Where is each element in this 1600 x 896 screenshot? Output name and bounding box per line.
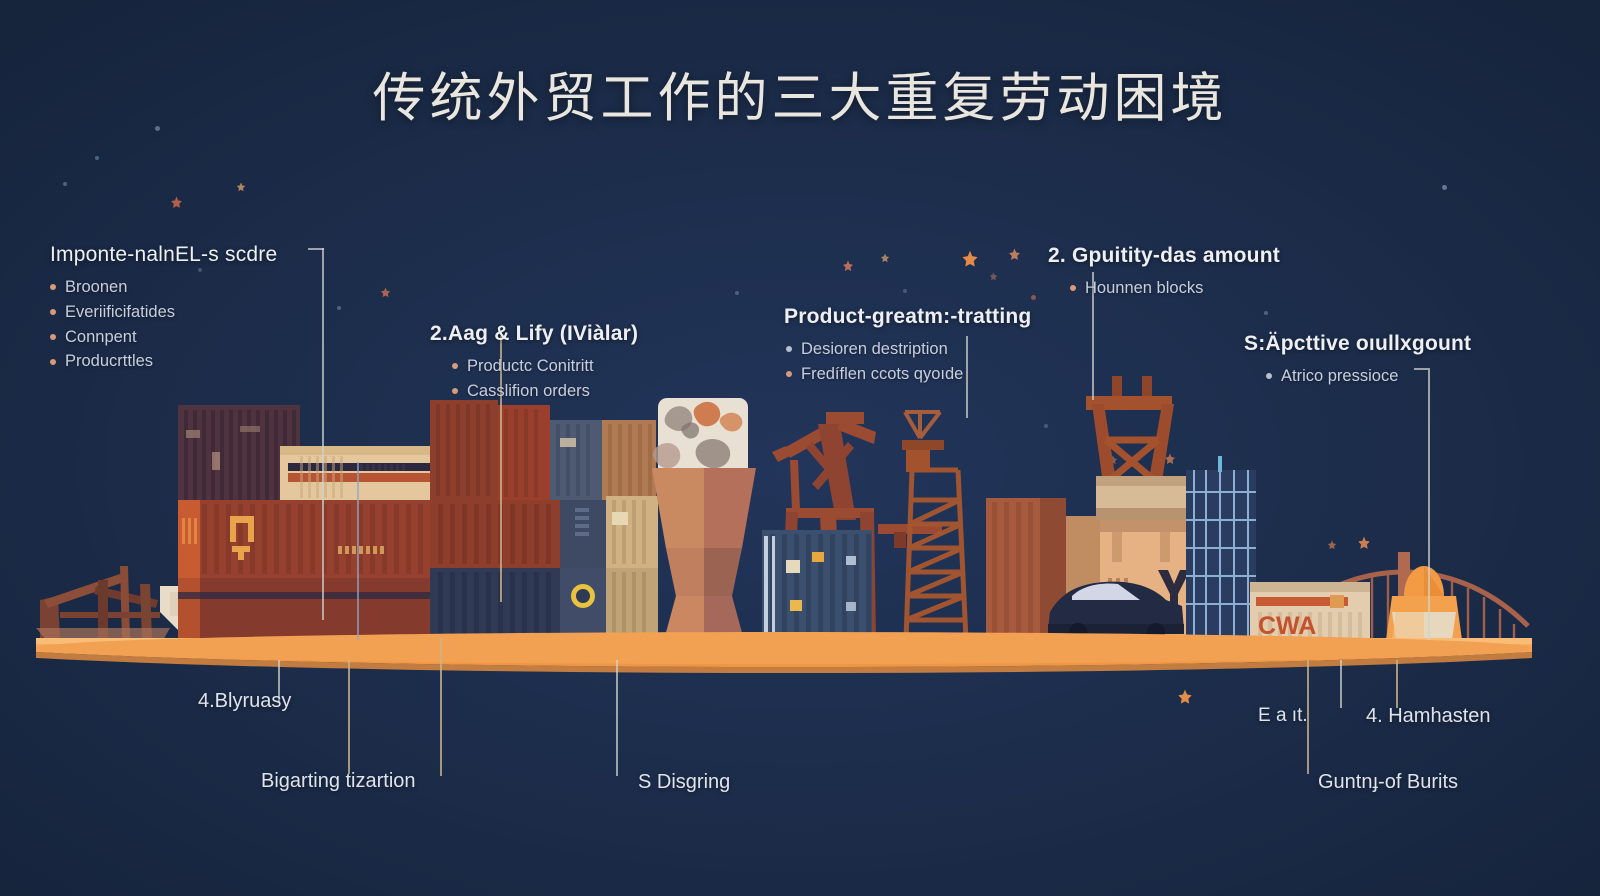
annotation-bullet-list: Atrico pressioce bbox=[1266, 364, 1471, 389]
list-item-label: Fredíflen ccots qyoıde bbox=[801, 362, 963, 387]
list-item: Connpent bbox=[50, 325, 277, 350]
list-item-label: Broonen bbox=[65, 275, 127, 300]
list-item: Atrico pressioce bbox=[1266, 364, 1471, 389]
list-item-label: Atrico pressioce bbox=[1281, 364, 1398, 389]
list-item: Casslifion orders bbox=[452, 379, 638, 404]
container-stack-center-left bbox=[430, 400, 658, 640]
bullet-icon bbox=[50, 284, 56, 290]
infographic-canvas: CWA bbox=[0, 0, 1600, 896]
leader-line-b4 bbox=[616, 660, 618, 776]
list-item-label: Producrttles bbox=[65, 349, 153, 374]
annotation-title: Product-greatm:-tratting bbox=[784, 305, 1031, 329]
annotation-bullet-list: Broonen Everiificifatides Connpent Produ… bbox=[50, 275, 277, 374]
annotation-bullet-list: Desioren destription Fredíflen ccots qyo… bbox=[786, 337, 1031, 387]
annotation-aag-lify[interactable]: 2.Aag & Lify (IViàlar) Productc Conitrit… bbox=[430, 322, 638, 404]
list-item: Fredíflen ccots qyoıde bbox=[786, 362, 1031, 387]
list-item-label: Desioren destription bbox=[801, 337, 948, 362]
bottom-label-blyruasy[interactable]: 4.Blyruasy bbox=[198, 690, 291, 713]
bullet-icon bbox=[786, 371, 792, 377]
list-item: Producrttles bbox=[50, 349, 277, 374]
bullet-icon bbox=[786, 346, 792, 352]
leader-line-1b bbox=[357, 462, 359, 640]
list-item: Productc Conitritt bbox=[452, 354, 638, 379]
annotation-title: 2. Gpuitity-das amount bbox=[1048, 244, 1280, 268]
annotation-specttive-oullxgount[interactable]: S:Äpcttive oıullxgount Atrico pressioce bbox=[1244, 332, 1471, 389]
list-item: Hounnen blocks bbox=[1070, 276, 1280, 301]
annotation-import-names-score[interactable]: Imponte-nalnEL-s scdre Broonen Everiific… bbox=[50, 243, 277, 374]
page-title: 传统外贸工作的三大重复劳动困境 bbox=[0, 56, 1600, 132]
bullet-icon bbox=[1266, 373, 1272, 379]
annotation-title: 2.Aag & Lify (IViàlar) bbox=[430, 322, 638, 346]
bullet-icon bbox=[50, 309, 56, 315]
bullet-icon bbox=[1070, 285, 1076, 291]
container-stack-center-right bbox=[762, 530, 872, 640]
bullet-icon bbox=[452, 388, 458, 394]
bullet-icon bbox=[50, 359, 56, 365]
list-item-label: Productc Conitritt bbox=[467, 354, 594, 379]
annotation-bullet-list: Productc Conitritt Casslifion orders bbox=[452, 354, 638, 404]
list-item-label: Connpent bbox=[65, 325, 137, 350]
bottom-label-eat[interactable]: E a ıt. bbox=[1258, 705, 1308, 727]
bottom-label-hamhasten[interactable]: 4. Hamhasten bbox=[1366, 705, 1491, 728]
port-illustration: CWA bbox=[0, 0, 1600, 896]
leader-line-1 bbox=[322, 248, 324, 620]
monument-statue bbox=[652, 398, 756, 640]
list-item: Desioren destription bbox=[786, 337, 1031, 362]
leader-line-b3 bbox=[440, 638, 442, 776]
list-item-label: Casslifion orders bbox=[467, 379, 590, 404]
leader-line-b7 bbox=[1396, 660, 1398, 708]
bottom-label-bigarting[interactable]: Bigarting tizartion bbox=[261, 770, 416, 793]
annotation-quantity-das-amount[interactable]: 2. Gpuitity-das amount Hounnen blocks bbox=[1048, 244, 1280, 301]
leader-line-b6 bbox=[1340, 660, 1342, 708]
list-item: Broonen bbox=[50, 275, 277, 300]
right-lattice-crane bbox=[900, 410, 974, 640]
leader-line-5 bbox=[1428, 368, 1430, 640]
bullet-icon bbox=[452, 363, 458, 369]
annotation-bullet-list: Hounnen blocks bbox=[1070, 276, 1280, 301]
annotation-title: Imponte-nalnEL-s scdre bbox=[50, 243, 277, 267]
leader-line-b2 bbox=[348, 660, 350, 774]
list-item-label: Everiificifatides bbox=[65, 300, 175, 325]
list-item-label: Hounnen blocks bbox=[1085, 276, 1203, 301]
annotation-title: S:Äpcttive oıullxgount bbox=[1244, 332, 1471, 356]
cwa-container: CWA bbox=[1250, 582, 1370, 640]
bottom-label-guntnt-of-burits[interactable]: Guntnɟ-of Burits bbox=[1318, 771, 1458, 794]
bottom-label-disgring[interactable]: S Disgring bbox=[638, 771, 730, 794]
list-item: Everiificifatides bbox=[50, 300, 277, 325]
annotation-product-greatm-tratting[interactable]: Product-greatm:-tratting Desioren destri… bbox=[784, 305, 1031, 387]
bullet-icon bbox=[50, 334, 56, 340]
